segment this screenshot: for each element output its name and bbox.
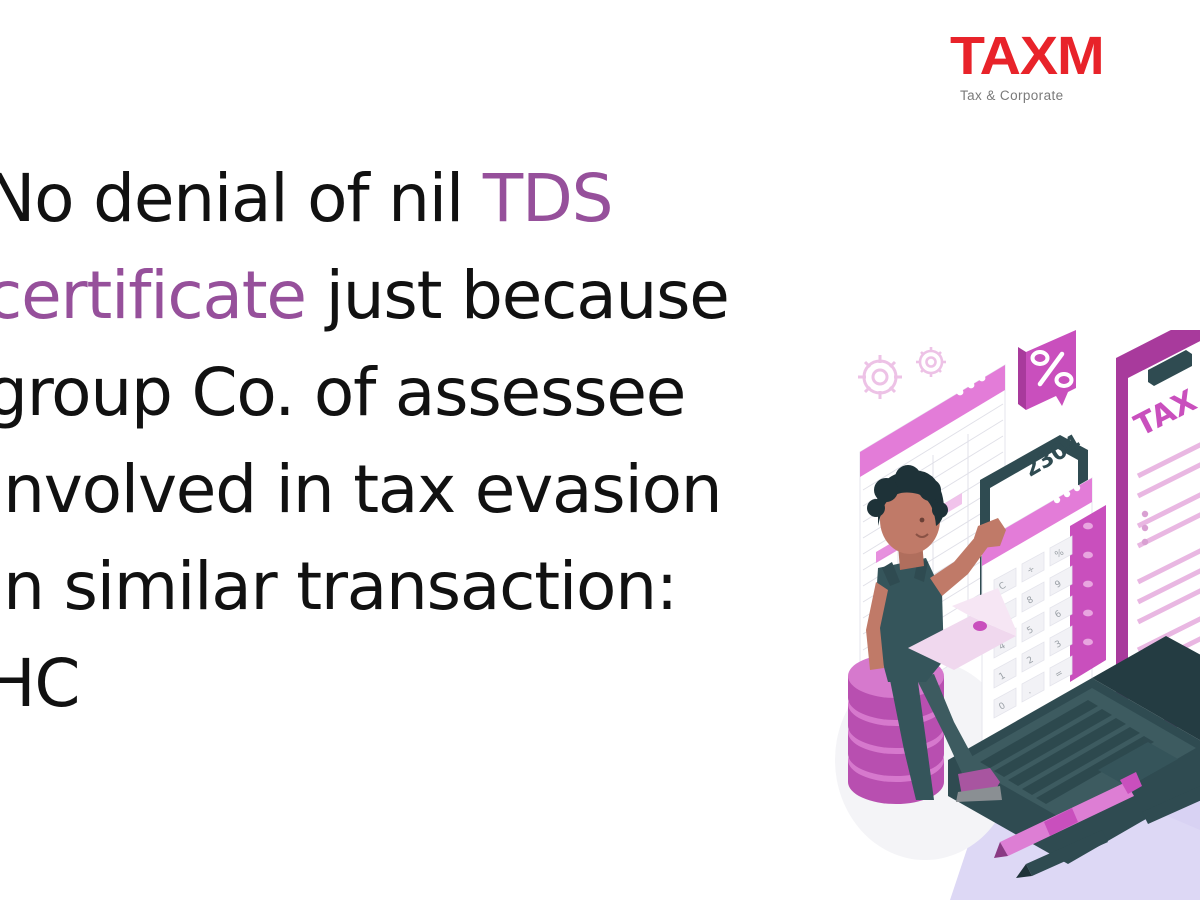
brand-wordmark: TAXM [950,28,1200,84]
headline-text: just because [306,257,729,334]
headline-line-4: involved in tax evasion [0,441,866,538]
gear-small-icon [916,347,946,377]
headline-accent: certificate [0,257,306,334]
headline-line-5: in similar transaction: [0,538,866,635]
headline-line-3: group Co. of assessee [0,344,866,441]
headline-line-2: certificate just because [0,247,866,344]
headline-text: HC [0,645,79,722]
headline-line-1: No denial of nil TDS [0,150,866,247]
brand-logo: TAXM Tax & Corporate [950,28,1200,103]
brand-tagline: Tax & Corporate [960,88,1200,103]
gear-large-icon [858,355,902,399]
page-title: No denial of nil TDS certificate just be… [0,150,866,732]
percent-badge [1018,330,1076,410]
headline-text: No denial of nil [0,160,483,237]
headline-line-6: HC [0,635,866,732]
headline-text: in similar transaction: [0,548,677,625]
headline-text: involved in tax evasion [0,451,721,528]
headline-text: group Co. of assessee [0,354,685,431]
headline-accent: TDS [483,160,612,237]
poster-canvas: TAXM Tax & Corporate No denial of nil TD… [0,0,1200,900]
tax-workspace-illustration: 2304 [830,330,1200,900]
